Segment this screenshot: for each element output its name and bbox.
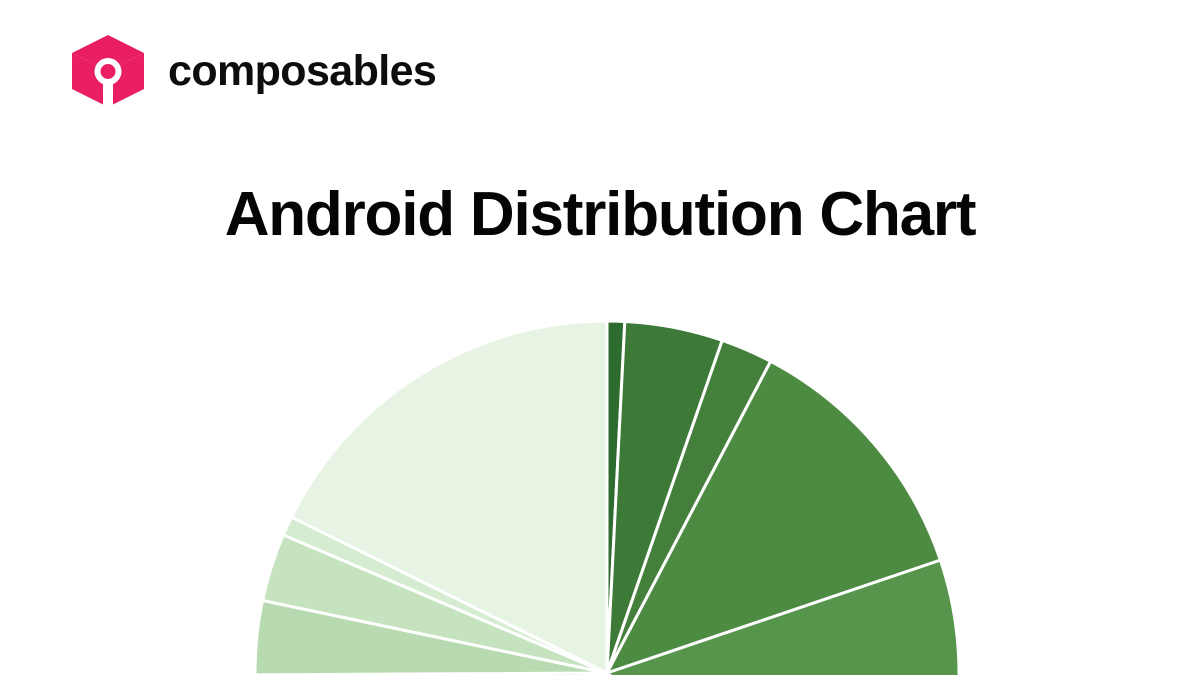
pie-chart-svg [0, 0, 1200, 675]
page-root: composables Android Distribution Chart [0, 0, 1200, 675]
pie-chart [0, 0, 1200, 675]
pie-slice-group [255, 321, 959, 675]
